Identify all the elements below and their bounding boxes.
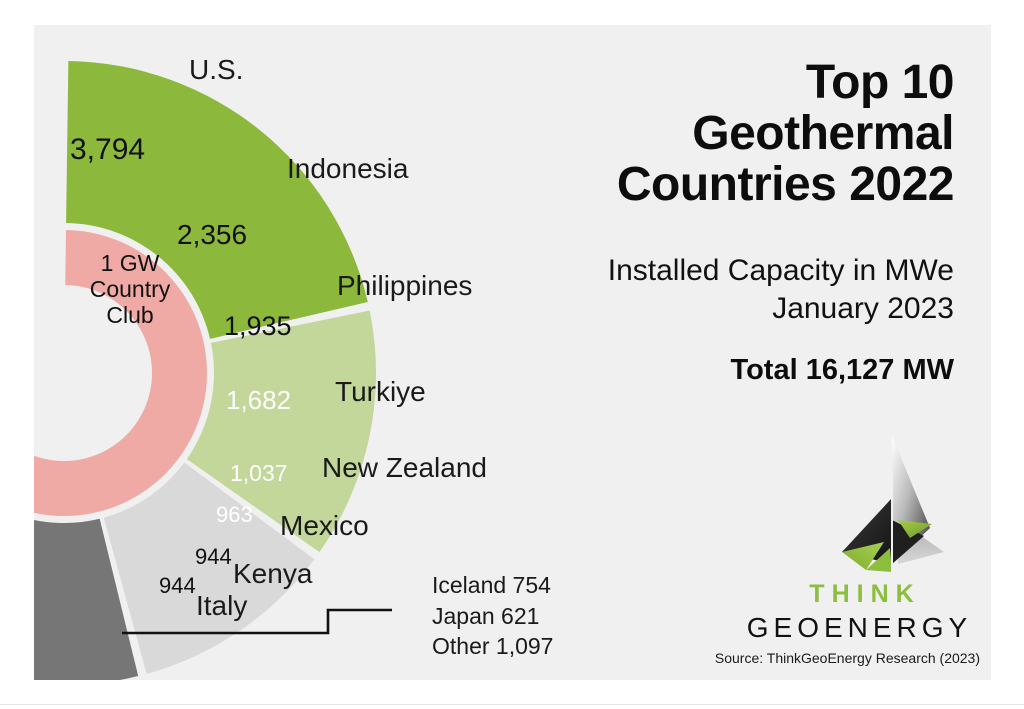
page-subtitle-line-1: Installed Capacity in MWe: [434, 252, 954, 290]
inner-ring-label-line-1: 1 GW: [50, 251, 210, 277]
thinkgeoenergy-logo-icon: [806, 432, 976, 577]
source-credit: Source: ThinkGeoEnergy Research (2023): [715, 650, 980, 666]
page-title-line-2: Geothermal: [434, 109, 954, 160]
small-country-japan: Japan 621: [432, 601, 553, 632]
country-label-kenya: Kenya: [233, 560, 312, 588]
wedge-value-new-zealand: 1,037: [230, 462, 288, 485]
page-subtitle-line-2: January 2023: [434, 290, 954, 328]
page-title: Top 10 Geothermal Countries 2022: [434, 58, 954, 211]
country-label-us: U.S.: [189, 56, 243, 84]
wedge-value-kenya: 944: [195, 546, 232, 568]
logo-wordmark-think: THINK: [740, 580, 990, 609]
country-label-mexico: Mexico: [280, 512, 369, 540]
inner-ring-label-line-2: Country: [50, 277, 210, 303]
wedge-value-philippines: 1,935: [224, 313, 292, 340]
country-label-new-zealand: New Zealand: [322, 454, 487, 482]
total-capacity-label: Total 16,127 MW: [434, 356, 954, 385]
country-label-turkiye: Turkiye: [335, 378, 426, 406]
wedge-value-turkiye: 1,682: [226, 387, 291, 413]
infographic-canvas: 3,794 2,356 1,935 1,682 1,037 963 944 94…: [0, 0, 1024, 709]
small-country-iceland: Iceland 754: [432, 570, 553, 601]
small-countries-list: Iceland 754 Japan 621 Other 1,097: [432, 570, 553, 662]
page-title-line-1: Top 10: [434, 58, 954, 109]
wedge-value-us: 3,794: [70, 135, 145, 165]
page-title-line-3: Countries 2022: [434, 160, 954, 211]
leader-line-path: [122, 610, 392, 633]
wedge-value-indonesia: 2,356: [177, 221, 247, 249]
country-label-indonesia: Indonesia: [287, 155, 408, 183]
inner-ring-label: 1 GW Country Club: [50, 251, 210, 328]
wedge-value-mexico: 963: [216, 504, 253, 526]
page-subtitle: Installed Capacity in MWe January 2023: [434, 252, 954, 328]
small-country-other: Other 1,097: [432, 631, 553, 662]
bottom-divider: [0, 704, 1024, 705]
logo-wordmark-geoenergy: GEOENERGY: [727, 612, 992, 644]
leader-line: [120, 596, 410, 646]
inner-ring-label-line-3: Club: [50, 303, 210, 329]
wedge-value-italy: 944: [159, 575, 196, 597]
